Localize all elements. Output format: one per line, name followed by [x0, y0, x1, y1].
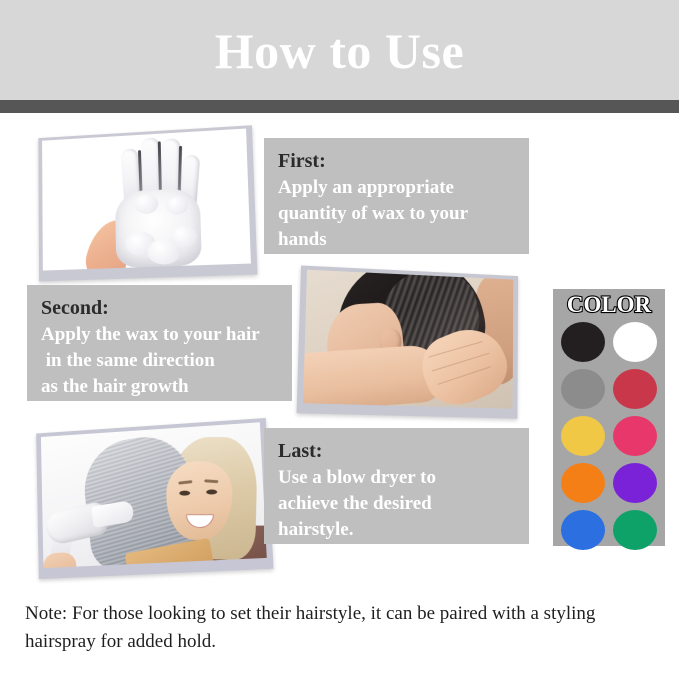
header-divider-rule: [0, 100, 679, 113]
step-line: in the same direction: [41, 348, 278, 374]
photo-blow-drying-hair: [41, 422, 267, 568]
holding-hand-shape: [43, 552, 76, 568]
color-swatch-panel: COLOR: [553, 289, 665, 546]
step-label-second: Second:: [41, 295, 278, 321]
step-line: Apply an appropriate: [278, 175, 515, 201]
page-title: How to Use: [0, 21, 679, 81]
color-swatch-grid: [561, 322, 657, 550]
color-swatch-black[interactable]: [561, 322, 605, 362]
footer-note: Note: For those looking to set their hai…: [25, 600, 645, 656]
color-swatch-blue[interactable]: [561, 510, 605, 550]
photo-wax-on-hand: [42, 129, 251, 271]
color-swatch-purple[interactable]: [613, 463, 657, 503]
step-line: quantity of wax to your: [278, 201, 515, 227]
color-swatch-red[interactable]: [613, 369, 657, 409]
step-label-first: First:: [278, 148, 515, 174]
color-panel-title: COLOR: [553, 292, 665, 318]
step-line: Apply the wax to your hair: [41, 322, 278, 348]
color-swatch-pink[interactable]: [613, 416, 657, 456]
color-swatch-grey[interactable]: [561, 369, 605, 409]
step-line: achieve the desired: [278, 491, 515, 517]
step-line: as the hair growth: [41, 374, 278, 400]
photo-applying-wax-to-hair: [303, 270, 513, 409]
color-swatch-yellow[interactable]: [561, 416, 605, 456]
step-panel-second: Second: Apply the wax to your hair in th…: [27, 285, 292, 401]
photo-card-step-first: [38, 125, 257, 281]
step-panel-last: Last: Use a blow dryer to achieve the de…: [264, 428, 529, 544]
step-line: hands: [278, 227, 515, 253]
step-line: Use a blow dryer to: [278, 465, 515, 491]
how-to-use-infographic: How to Use First: Apply a: [0, 0, 679, 679]
step-label-last: Last:: [278, 438, 515, 464]
photo-card-step-last: [36, 418, 273, 579]
step-panel-first: First: Apply an appropriate quantity of …: [264, 138, 529, 254]
color-swatch-white[interactable]: [613, 322, 657, 362]
photo-card-step-second: [297, 265, 519, 418]
step-line: hairstyle.: [278, 517, 515, 543]
color-swatch-green[interactable]: [613, 510, 657, 550]
color-swatch-orange[interactable]: [561, 463, 605, 503]
hand-illustration: [42, 129, 251, 271]
